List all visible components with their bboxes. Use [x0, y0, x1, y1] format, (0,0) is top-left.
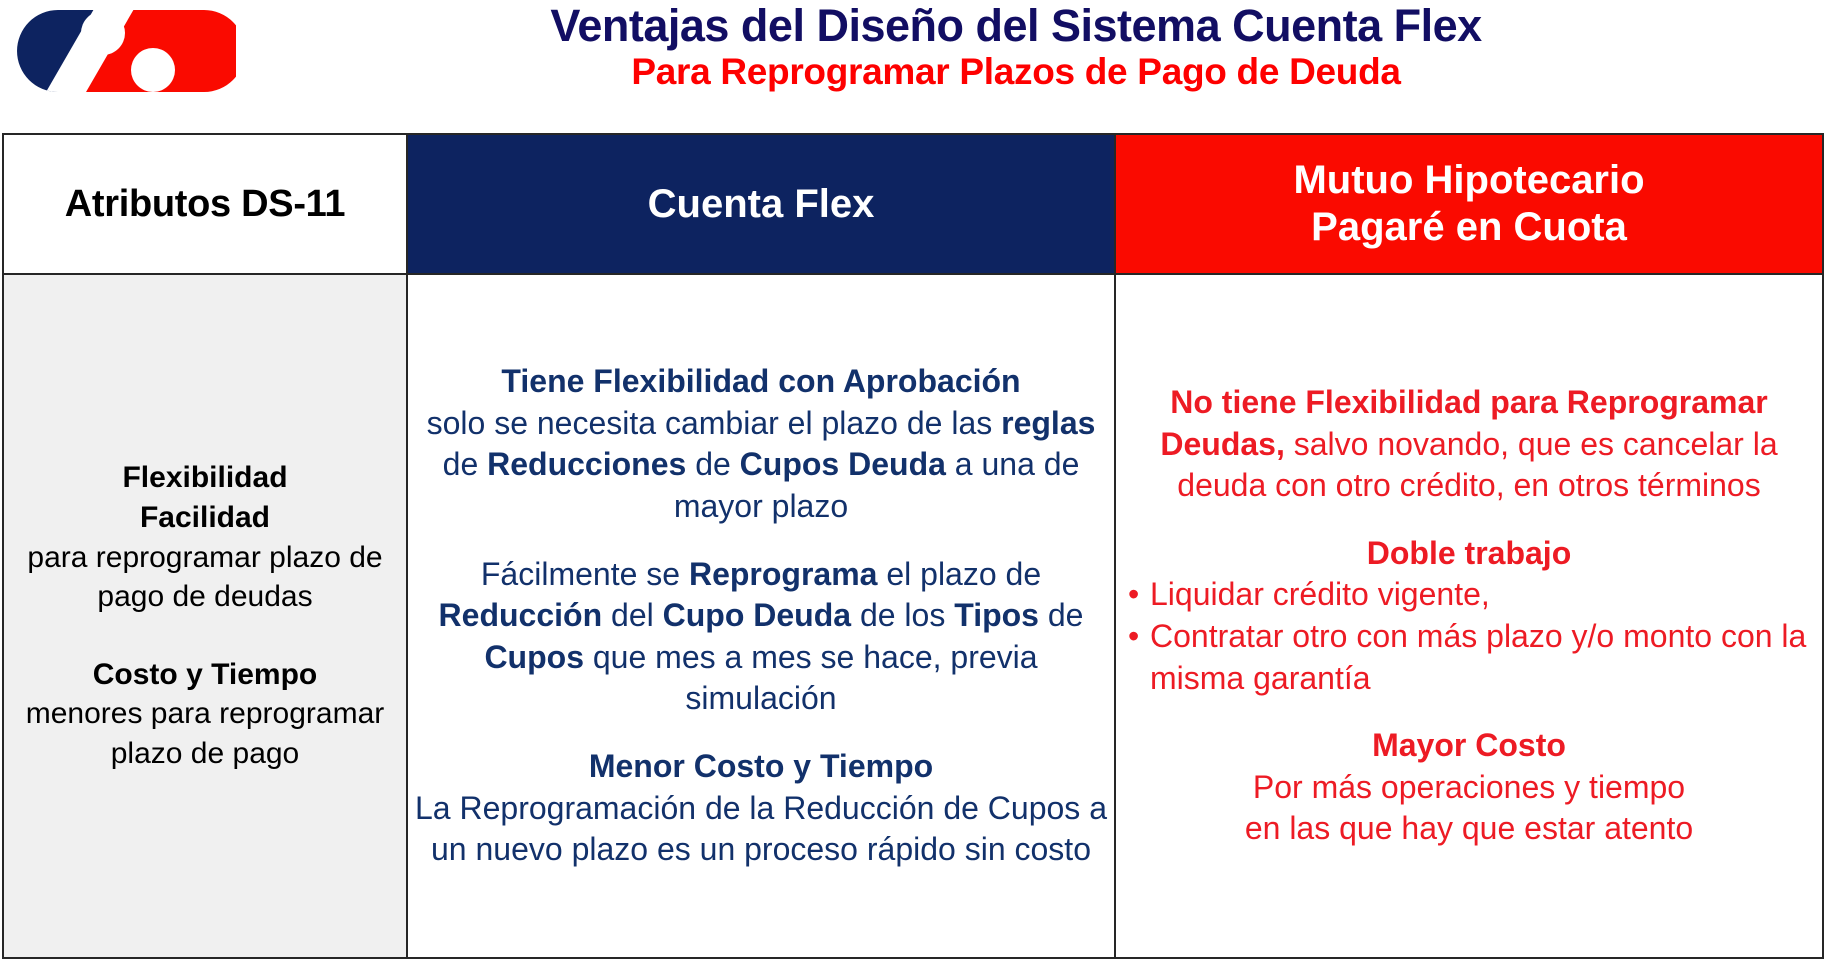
company-logo	[6, 2, 236, 102]
flex-block2-t3: del	[602, 597, 662, 633]
flex-block1: Tiene Flexibilidad con Aprobación solo s…	[408, 361, 1114, 527]
header-label-cuenta-flex: Cuenta Flex	[648, 182, 875, 226]
flex-spacer-2	[408, 720, 1114, 746]
cell-mutuo-hipotecario: No tiene Flexibilidad para Reprogramar D…	[1115, 274, 1823, 958]
flex-block1-heading: Tiene Flexibilidad con Aprobación	[501, 363, 1020, 399]
header-label-mutuo-line1: Mutuo Hipotecario	[1116, 157, 1822, 204]
attr-block1-bold-line1: Flexibilidad	[122, 461, 287, 494]
flex-block2-b2: Reducción	[439, 597, 603, 633]
mut-block2-heading: Doble trabajo	[1367, 535, 1571, 571]
table-body-row: Flexibilidad Facilidad para reprogramar …	[3, 274, 1823, 958]
flex-block3-text: La Reprogramación de la Reducción de Cup…	[415, 790, 1107, 868]
attr-spacer	[4, 617, 406, 655]
list-item: • Liquidar crédito vigente,	[1124, 574, 1822, 616]
flex-block2: Fácilmente se Reprograma el plazo de Red…	[408, 554, 1114, 720]
flex-block1-b2: Reducciones	[487, 446, 686, 482]
table-header-row: Atributos DS-11 Cuenta Flex Mutuo Hipote…	[3, 134, 1823, 274]
flex-block2-b1: Reprograma	[689, 556, 878, 592]
mut-bullet-2-text: Contratar otro con más plazo y/o monto c…	[1150, 618, 1806, 696]
header-cell-mutuo-hipotecario: Mutuo Hipotecario Pagaré en Cuota	[1115, 134, 1823, 274]
page-subtitle: Para Reprogramar Plazos de Pago de Deuda	[236, 51, 1796, 92]
title-block: Ventajas del Diseño del Sistema Cuenta F…	[236, 0, 1796, 93]
header-label-mutuo-line2: Pagaré en Cuota	[1116, 204, 1822, 251]
header-cell-attributes: Atributos DS-11	[3, 134, 407, 274]
cell-cuenta-flex: Tiene Flexibilidad con Aprobación solo s…	[407, 274, 1115, 958]
attr-block2: Costo y Tiempo menores para reprogramar …	[4, 655, 406, 774]
flex-block1-b1: reglas	[1001, 405, 1095, 441]
list-item: • Contratar otro con más plazo y/o monto…	[1124, 616, 1822, 699]
flex-block1-t1: solo se necesita cambiar el plazo de las	[427, 405, 1002, 441]
flex-block3-heading: Menor Costo y Tiempo	[589, 748, 933, 784]
flex-block2-t1: Fácilmente se	[481, 556, 689, 592]
flex-block1-t3: de	[686, 446, 739, 482]
flex-block2-b4: Tipos	[954, 597, 1039, 633]
attr-block2-text: menores para reprogramar plazo de pago	[26, 697, 385, 770]
mut-block3-line2: en las que hay que estar atento	[1245, 810, 1693, 846]
flex-block2-t2: el plazo de	[877, 556, 1041, 592]
mut-block3-line1: Por más operaciones y tiempo	[1253, 769, 1685, 805]
flex-block2-t5: de	[1039, 597, 1083, 633]
mut-bullet-list: • Liquidar crédito vigente, • Contratar …	[1116, 574, 1822, 699]
mut-block2-heading-wrap: Doble trabajo	[1116, 533, 1822, 575]
bullet-icon: •	[1128, 616, 1139, 658]
header-label-attributes: Atributos DS-11	[65, 183, 346, 225]
mut-bullet-1-text: Liquidar crédito vigente,	[1150, 576, 1490, 612]
flex-block2-t4: de los	[851, 597, 954, 633]
cell-attributes: Flexibilidad Facilidad para reprogramar …	[3, 274, 407, 958]
bullet-icon: •	[1128, 574, 1139, 616]
attr-block1-bold-line2: Facilidad	[140, 501, 270, 534]
flex-block2-t6: que mes a mes se hace, previa simulación	[584, 639, 1038, 717]
attr-block2-bold: Costo y Tiempo	[93, 658, 317, 691]
flex-block2-b5: Cupos	[484, 639, 584, 675]
flex-block1-t2: de	[443, 446, 487, 482]
page-header: Ventajas del Diseño del Sistema Cuenta F…	[0, 0, 1828, 116]
attr-block1: Flexibilidad Facilidad para reprogramar …	[4, 458, 406, 616]
flex-block1-b3: Cupos Deuda	[740, 446, 946, 482]
attr-block1-text: para reprogramar plazo de pago de deudas	[27, 541, 382, 614]
page-title: Ventajas del Diseño del Sistema Cuenta F…	[236, 2, 1796, 49]
header-cell-cuenta-flex: Cuenta Flex	[407, 134, 1115, 274]
flex-spacer-1	[408, 528, 1114, 554]
mut-spacer-1	[1116, 507, 1822, 533]
mut-spacer-2	[1116, 699, 1822, 725]
mut-block1: No tiene Flexibilidad para Reprogramar D…	[1116, 382, 1822, 507]
flex-block3: Menor Costo y Tiempo La Reprogramación d…	[408, 746, 1114, 871]
mut-block3-heading: Mayor Costo	[1372, 727, 1566, 763]
flex-block2-b3: Cupo Deuda	[663, 597, 851, 633]
mut-block3: Mayor Costo Por más operaciones y tiempo…	[1116, 725, 1822, 850]
comparison-table: Atributos DS-11 Cuenta Flex Mutuo Hipote…	[2, 133, 1824, 959]
